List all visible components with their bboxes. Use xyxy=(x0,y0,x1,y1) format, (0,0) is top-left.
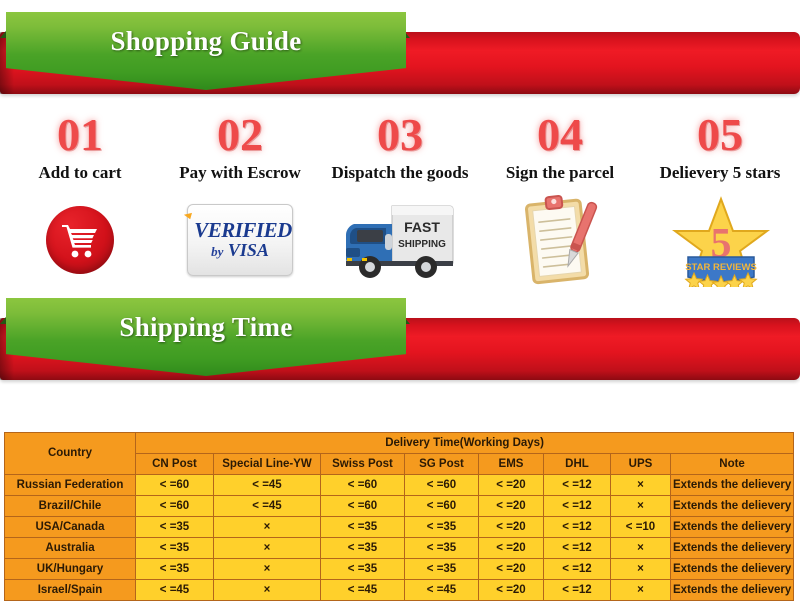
step-1-icon xyxy=(0,190,160,290)
cell-cn-post: < =60 xyxy=(136,496,214,517)
cell-ups: × xyxy=(611,559,671,580)
cell-ups: < =10 xyxy=(611,517,671,538)
table-row: Australia < =35 × < =35 < =35 < =20 < =1… xyxy=(5,538,794,559)
cell-swiss-post: < =45 xyxy=(321,580,405,601)
cell-special-line: < =45 xyxy=(214,475,321,496)
step-2-label: Pay with Escrow xyxy=(160,162,320,184)
shipping-time-table: Country Delivery Time(Working Days) CN P… xyxy=(4,432,794,601)
cell-special-line: × xyxy=(214,580,321,601)
table-row: USA/Canada < =35 × < =35 < =35 < =20 < =… xyxy=(5,517,794,538)
cell-sg-post: < =60 xyxy=(405,496,479,517)
cell-dhl: < =12 xyxy=(544,538,611,559)
five-star-reviews-icon: 5 STAR REVIEWS xyxy=(672,195,768,285)
shipping-time-table-wrap: Country Delivery Time(Working Days) CN P… xyxy=(4,432,793,601)
table-row: Israel/Spain < =45 × < =45 < =45 < =20 <… xyxy=(5,580,794,601)
cell-special-line: < =45 xyxy=(214,496,321,517)
steps-row: 01 Add to cart 02 Pay with Escrow xyxy=(0,100,800,290)
cell-ems: < =20 xyxy=(479,538,544,559)
cell-country: Russian Federation xyxy=(5,475,136,496)
cell-swiss-post: < =35 xyxy=(321,559,405,580)
visa-check-icon xyxy=(183,212,201,230)
cell-dhl: < =12 xyxy=(544,475,611,496)
cell-ems: < =20 xyxy=(479,559,544,580)
step-4-label: Sign the parcel xyxy=(480,162,640,184)
step-3: 03 Dispatch the goods xyxy=(320,110,480,290)
cell-cn-post: < =60 xyxy=(136,475,214,496)
step-2: 02 Pay with Escrow VERIFIED by VISA xyxy=(160,110,320,290)
header-cn-post: CN Post xyxy=(136,454,214,475)
cell-swiss-post: < =35 xyxy=(321,517,405,538)
step-2-icon: VERIFIED by VISA xyxy=(160,190,320,290)
cell-country: Australia xyxy=(5,538,136,559)
shopping-cart-icon xyxy=(46,206,114,274)
header-dhl: DHL xyxy=(544,454,611,475)
cell-cn-post: < =35 xyxy=(136,517,214,538)
header-special-line: Special Line-YW xyxy=(214,454,321,475)
step-1-number: 01 xyxy=(0,110,160,160)
step-1: 01 Add to cart xyxy=(0,110,160,290)
cell-sg-post: < =35 xyxy=(405,559,479,580)
star-ribbon-text: STAR REVIEWS xyxy=(685,262,757,273)
header-country: Country xyxy=(5,433,136,475)
table-head: Country Delivery Time(Working Days) CN P… xyxy=(5,433,794,475)
cell-special-line: × xyxy=(214,538,321,559)
cell-country: Israel/Spain xyxy=(5,580,136,601)
cell-ups: × xyxy=(611,538,671,559)
visa-brand-text: VISA xyxy=(228,240,269,260)
step-4: 04 Sign the parcel xyxy=(480,110,640,290)
step-3-number: 03 xyxy=(320,110,480,160)
cell-sg-post: < =35 xyxy=(405,538,479,559)
delivery-truck-icon: FAST SHIPPING xyxy=(340,198,460,282)
cell-note: Extends the delievery time xyxy=(671,559,794,580)
cell-note: Extends the delievery time xyxy=(671,580,794,601)
cell-note: Extends the delievery time xyxy=(671,496,794,517)
shopping-guide-banner: Shopping Guide xyxy=(0,0,800,100)
cell-note: Extends the delievery time xyxy=(671,538,794,559)
cell-note: Extends the delievery time xyxy=(671,517,794,538)
cell-swiss-post: < =35 xyxy=(321,538,405,559)
step-5-icon: 5 STAR REVIEWS xyxy=(640,190,800,290)
step-3-label: Dispatch the goods xyxy=(320,162,480,184)
cell-ups: × xyxy=(611,580,671,601)
table-row: Russian Federation < =60 < =45 < =60 < =… xyxy=(5,475,794,496)
cell-ems: < =20 xyxy=(479,496,544,517)
cell-dhl: < =12 xyxy=(544,517,611,538)
shopping-guide-title: Shopping Guide xyxy=(6,26,406,57)
table-row: Brazil/Chile < =60 < =45 < =60 < =60 < =… xyxy=(5,496,794,517)
step-2-number: 02 xyxy=(160,110,320,160)
table-body: Russian Federation < =60 < =45 < =60 < =… xyxy=(5,475,794,601)
header-sg-post: SG Post xyxy=(405,454,479,475)
header-delivery-time-group: Delivery Time(Working Days) xyxy=(136,433,794,454)
cell-sg-post: < =45 xyxy=(405,580,479,601)
cell-sg-post: < =35 xyxy=(405,517,479,538)
verified-by-visa-icon: VERIFIED by VISA xyxy=(187,204,293,276)
shipping-time-banner: Shipping Time xyxy=(0,286,800,386)
cell-country: USA/Canada xyxy=(5,517,136,538)
svg-text:SHIPPING: SHIPPING xyxy=(398,239,446,250)
shipping-time-title: Shipping Time xyxy=(6,312,406,343)
cell-dhl: < =12 xyxy=(544,559,611,580)
step-4-number: 04 xyxy=(480,110,640,160)
cell-country: UK/Hungary xyxy=(5,559,136,580)
cell-special-line: × xyxy=(214,517,321,538)
cell-special-line: × xyxy=(214,559,321,580)
cell-cn-post: < =45 xyxy=(136,580,214,601)
visa-by-text: by xyxy=(211,244,223,259)
step-5-number: 05 xyxy=(640,110,800,160)
table-group-header-row: Country Delivery Time(Working Days) xyxy=(5,433,794,454)
cell-ups: × xyxy=(611,475,671,496)
step-5-label: Delievery 5 stars xyxy=(640,162,800,184)
clipboard-pen-icon xyxy=(520,194,600,286)
table-row: UK/Hungary < =35 × < =35 < =35 < =20 < =… xyxy=(5,559,794,580)
cell-swiss-post: < =60 xyxy=(321,496,405,517)
cell-cn-post: < =35 xyxy=(136,538,214,559)
cell-dhl: < =12 xyxy=(544,580,611,601)
step-5: 05 Delievery 5 stars 5 STAR REVIEWS xyxy=(640,110,800,290)
cell-country: Brazil/Chile xyxy=(5,496,136,517)
cell-ups: × xyxy=(611,496,671,517)
cell-cn-post: < =35 xyxy=(136,559,214,580)
cell-note: Extends the delievery time xyxy=(671,475,794,496)
header-note: Note xyxy=(671,454,794,475)
header-swiss-post: Swiss Post xyxy=(321,454,405,475)
step-4-icon xyxy=(480,190,640,290)
cell-sg-post: < =60 xyxy=(405,475,479,496)
cell-swiss-post: < =60 xyxy=(321,475,405,496)
cell-ems: < =20 xyxy=(479,475,544,496)
step-3-icon: FAST SHIPPING xyxy=(320,190,480,290)
cell-ems: < =20 xyxy=(479,517,544,538)
svg-text:FAST: FAST xyxy=(404,219,440,235)
cell-ems: < =20 xyxy=(479,580,544,601)
header-ems: EMS xyxy=(479,454,544,475)
step-1-label: Add to cart xyxy=(0,162,160,184)
visa-verified-text: VERIFIED xyxy=(194,218,292,242)
header-ups: UPS xyxy=(611,454,671,475)
cell-dhl: < =12 xyxy=(544,496,611,517)
